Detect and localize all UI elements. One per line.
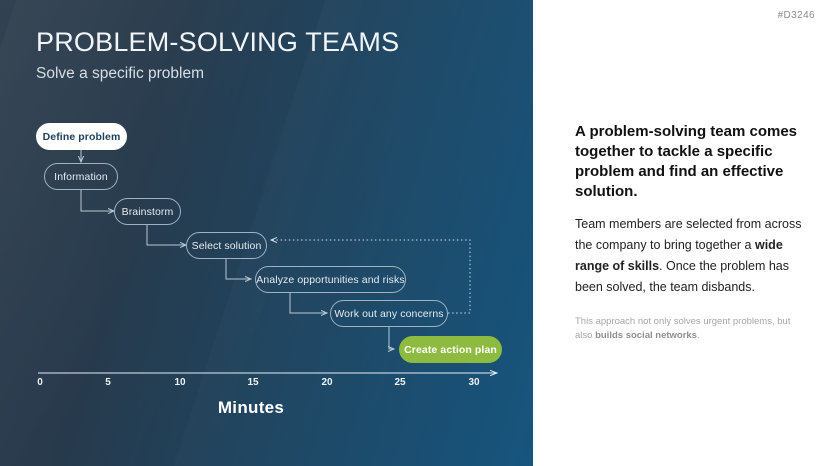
sidebar-caption: This approach not only solves urgent pro… bbox=[575, 315, 810, 343]
flow-node-define-problem[interactable]: Define problem bbox=[36, 123, 127, 150]
flow-node-label: Analyze opportunities and risks bbox=[256, 274, 404, 286]
flow-node-label: Select solution bbox=[192, 240, 262, 252]
flow-node-label: Create action plan bbox=[404, 344, 497, 356]
flow-node-analyze-opportunities[interactable]: Analyze opportunities and risks bbox=[255, 266, 406, 293]
axis-tick-25: 25 bbox=[394, 377, 405, 388]
axis-tick-15: 15 bbox=[247, 377, 258, 388]
axis-tick-20: 20 bbox=[321, 377, 332, 388]
axis-tick-10: 10 bbox=[174, 377, 185, 388]
flow-node-brainstorm[interactable]: Brainstorm bbox=[114, 198, 181, 225]
flow-node-label: Information bbox=[54, 171, 108, 183]
flow-node-information[interactable]: Information bbox=[44, 163, 118, 190]
slide-root: PROBLEM-SOLVING TEAMS Solve a specific p… bbox=[0, 0, 829, 466]
sidebar-caption-part2: . bbox=[697, 330, 700, 341]
left-content-panel: PROBLEM-SOLVING TEAMS Solve a specific p… bbox=[0, 0, 533, 466]
flow-node-label: Define problem bbox=[43, 131, 121, 143]
flow-node-select-solution[interactable]: Select solution bbox=[186, 232, 267, 259]
axis-tick-5: 5 bbox=[105, 377, 111, 388]
flow-node-create-action-plan[interactable]: Create action plan bbox=[399, 336, 502, 363]
flow-node-label: Work out any concerns bbox=[334, 308, 443, 320]
axis-title: Minutes bbox=[218, 398, 284, 418]
flow-node-label: Brainstorm bbox=[122, 206, 174, 218]
reference-code: #D3246 bbox=[778, 10, 815, 21]
axis-tick-30: 30 bbox=[468, 377, 479, 388]
sidebar-body: Team members are selected from across th… bbox=[575, 214, 815, 298]
sidebar-caption-emphasis: builds social networks bbox=[595, 330, 697, 341]
sidebar-headline: A problem-solving team comes together to… bbox=[575, 122, 815, 202]
axis-tick-0: 0 bbox=[37, 377, 43, 388]
flow-node-work-out-concerns[interactable]: Work out any concerns bbox=[330, 300, 448, 327]
flow-connectors bbox=[0, 0, 533, 466]
